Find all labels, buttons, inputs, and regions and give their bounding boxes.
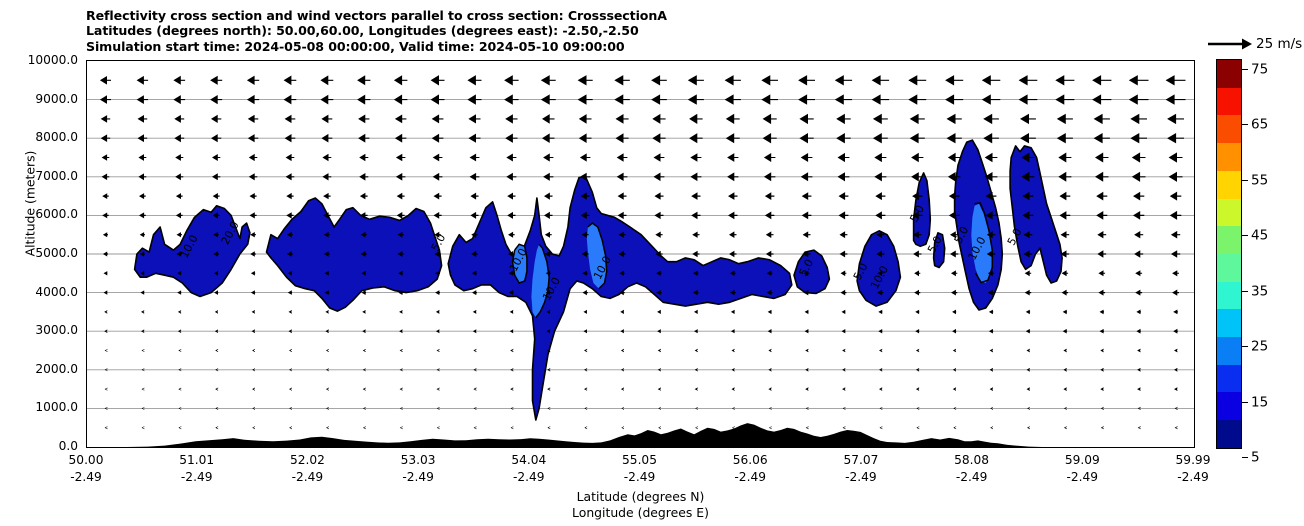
- cross-section-plot[interactable]: 10.020.05.010.010.010.05.05.010.05.05.05…: [86, 60, 1195, 448]
- y-axis-title: Altitude (meters): [23, 114, 38, 294]
- x-axis-title-longitude: Longitude (degrees E): [86, 505, 1195, 521]
- colorbar-tick-mark: [1242, 124, 1248, 125]
- y-axis-tick-label: 3000.0: [35, 324, 78, 336]
- colorbar-band: [1217, 309, 1241, 337]
- x-axis-titles: Latitude (degrees N) Longitude (degrees …: [86, 489, 1195, 521]
- colorbar-band: [1217, 143, 1241, 171]
- y-axis-tick-label: 10000.0: [28, 54, 78, 66]
- y-axis-tick-label: 1000.0: [35, 401, 78, 413]
- colorbar-tick-value: 65: [1251, 117, 1268, 133]
- x-axis-latitude-label: 53.03: [401, 452, 436, 469]
- y-axis-tick-label: 5000.0: [35, 247, 78, 259]
- colorbar-tick-value: 25: [1251, 339, 1268, 355]
- colorbar-tick-value: 35: [1251, 283, 1268, 299]
- x-axis-tick-group: 55.05-2.49: [622, 452, 657, 486]
- colorbar-tick-mark: [1242, 402, 1248, 403]
- y-axis-tick-label: 7000.0: [35, 170, 78, 182]
- colorbar-tick-labels: 756555453525155: [1242, 59, 1282, 449]
- x-axis-longitude-label: -2.49: [179, 469, 214, 486]
- reference-vector-key: 25 m/s: [1208, 36, 1302, 52]
- terrain-profile: [87, 61, 1194, 447]
- colorbar-tick-mark: [1242, 180, 1248, 181]
- x-axis-longitude-label: -2.49: [401, 469, 436, 486]
- x-axis-latitude-label: 56.06: [733, 452, 768, 469]
- x-axis-tick-group: 50.00-2.49: [69, 452, 104, 486]
- right-arrow-icon: [1208, 37, 1252, 51]
- x-axis-tick-group: 52.02-2.49: [290, 452, 325, 486]
- x-axis-tick-group: 59.99-2.49: [1176, 452, 1211, 486]
- colorbar-band: [1217, 226, 1241, 254]
- x-axis-tick-labels: 50.00-2.4951.01-2.4952.02-2.4953.03-2.49…: [86, 452, 1195, 494]
- y-axis-tick-label: 0.0: [59, 440, 78, 452]
- title-line-3: Simulation start time: 2024-05-08 00:00:…: [86, 39, 1186, 54]
- x-axis-title-latitude: Latitude (degrees N): [86, 489, 1195, 505]
- x-axis-longitude-label: -2.49: [954, 469, 989, 486]
- y-axis-tick-label: 6000.0: [35, 208, 78, 220]
- colorbar-band: [1217, 365, 1241, 393]
- x-axis-tick-group: 58.08-2.49: [954, 452, 989, 486]
- x-axis-tick-group: 51.01-2.49: [179, 452, 214, 486]
- y-axis-tick-label: 8000.0: [35, 131, 78, 143]
- colorbar-band: [1217, 199, 1241, 227]
- y-axis-tick-label: 2000.0: [35, 363, 78, 375]
- y-axis-tick-label: 4000.0: [35, 285, 78, 297]
- x-axis-longitude-label: -2.49: [511, 469, 546, 486]
- x-axis-latitude-label: 51.01: [179, 452, 214, 469]
- x-axis-latitude-label: 59.99: [1176, 452, 1211, 469]
- x-axis-latitude-label: 55.05: [622, 452, 657, 469]
- x-axis-tick-group: 54.04-2.49: [511, 452, 546, 486]
- x-axis-tick-group: 56.06-2.49: [733, 452, 768, 486]
- x-axis-longitude-label: -2.49: [1065, 469, 1100, 486]
- x-axis-longitude-label: -2.49: [69, 469, 104, 486]
- x-axis-longitude-label: -2.49: [843, 469, 878, 486]
- x-axis-tick-group: 57.07-2.49: [843, 452, 878, 486]
- colorbar-tick-value: 45: [1251, 228, 1268, 244]
- x-axis-tick-group: 59.09-2.49: [1065, 452, 1100, 486]
- x-axis-longitude-label: -2.49: [290, 469, 325, 486]
- x-axis-latitude-label: 54.04: [511, 452, 546, 469]
- colorbar-band: [1217, 282, 1241, 310]
- x-axis-latitude-label: 57.07: [843, 452, 878, 469]
- x-axis-latitude-label: 52.02: [290, 452, 325, 469]
- colorbar-tick-mark: [1242, 291, 1248, 292]
- colorbar-tick-value: 55: [1251, 172, 1268, 188]
- colorbar-band: [1217, 171, 1241, 199]
- colorbar-tick-mark: [1242, 457, 1248, 458]
- chart-title-block: Reflectivity cross section and wind vect…: [86, 8, 1186, 54]
- colorbar-tick-value: 5: [1251, 450, 1260, 466]
- title-line-2: Latitudes (degrees north): 50.00,60.00, …: [86, 23, 1186, 38]
- colorbar-band: [1217, 337, 1241, 365]
- reference-vector-label: 25 m/s: [1256, 36, 1302, 52]
- x-axis-tick-group: 53.03-2.49: [401, 452, 436, 486]
- colorbar[interactable]: [1216, 59, 1242, 449]
- colorbar-band: [1217, 392, 1241, 420]
- colorbar-tick-mark: [1242, 346, 1248, 347]
- plot-inner: 10.020.05.010.010.010.05.05.010.05.05.05…: [87, 61, 1194, 447]
- colorbar-band: [1217, 115, 1241, 143]
- colorbar-band: [1217, 420, 1241, 448]
- y-axis-tick-labels: 10000.09000.08000.07000.06000.05000.0400…: [0, 60, 78, 448]
- colorbar-tick-mark: [1242, 235, 1248, 236]
- colorbar-band: [1217, 88, 1241, 116]
- x-axis-latitude-label: 58.08: [954, 452, 989, 469]
- terrain-fill: [87, 423, 1194, 447]
- colorbar-band: [1217, 254, 1241, 282]
- colorbar-tick-mark: [1242, 69, 1248, 70]
- x-axis-latitude-label: 59.09: [1065, 452, 1100, 469]
- colorbar-tick-value: 75: [1251, 62, 1268, 78]
- x-axis-longitude-label: -2.49: [622, 469, 657, 486]
- title-line-1: Reflectivity cross section and wind vect…: [86, 8, 1186, 23]
- y-axis-tick-label: 9000.0: [35, 92, 78, 104]
- colorbar-tick-value: 15: [1251, 394, 1268, 410]
- colorbar-band: [1217, 60, 1241, 88]
- x-axis-latitude-label: 50.00: [69, 452, 104, 469]
- x-axis-longitude-label: -2.49: [1176, 469, 1211, 486]
- x-axis-longitude-label: -2.49: [733, 469, 768, 486]
